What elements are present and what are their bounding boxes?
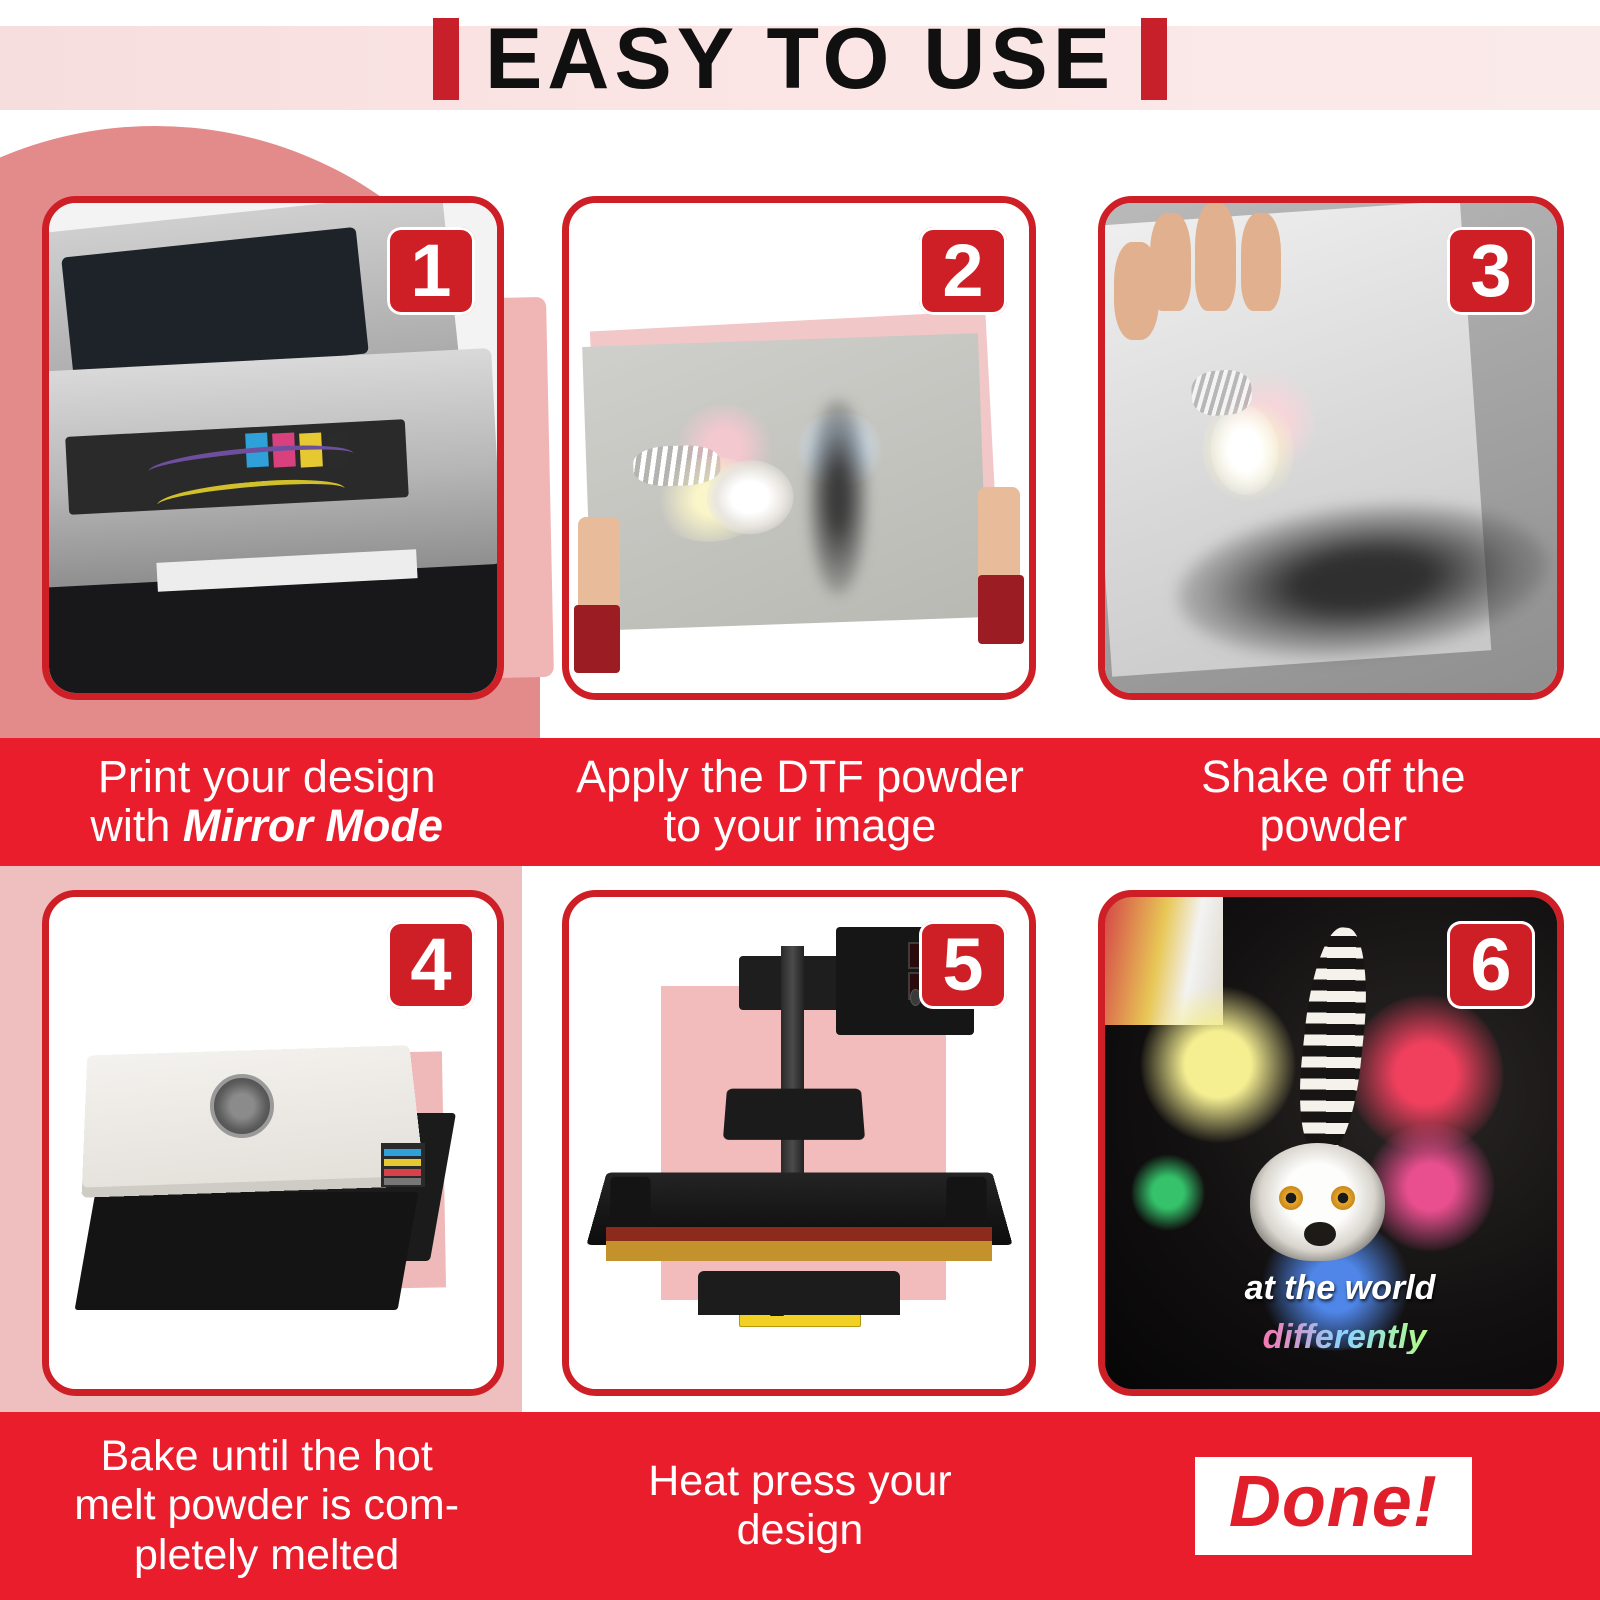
done-badge-box: Done! [1195,1457,1472,1555]
film-sheet-front [583,333,988,631]
panel-indicator-grey [384,1178,421,1185]
step-card-5[interactable]: 000 000 CAUTION [562,890,1036,1396]
press-base-foot [698,1271,900,1315]
header-left-accent-bar [433,18,459,100]
caption-step-3-line-1: Shake off the [1201,751,1465,802]
press-pressure-knob[interactable] [723,1089,865,1140]
panel-indicator-red [384,1169,421,1176]
caption-step-1-line-2-prefix: with [90,800,183,851]
caption-cell-step-2: Apply the DTF powder to your image [533,738,1066,866]
caption-step-3: Shake off the powder [1201,753,1465,850]
press-center-post [781,946,804,1192]
left-hand [578,517,619,615]
step-card-3[interactable]: 3 [1098,196,1564,700]
step-badge-4: 4 [387,921,475,1009]
page-header: EASY TO USE [0,0,1600,118]
caption-step-4-line-3: pletely melted [134,1531,399,1579]
caption-step-4: Bake until the hot melt powder is com- p… [74,1432,459,1579]
powder-blur-smear [808,399,868,595]
infographic-page: EASY TO USE 1 [0,0,1600,1600]
step-badge-5: 5 [919,921,1007,1009]
oven-drawer-tray [74,1192,417,1310]
caption-cell-step-4: Bake until the hot melt powder is com- p… [0,1412,533,1600]
platen-edge-foam [606,1241,992,1261]
page-title: EASY TO USE [485,16,1115,102]
caption-cell-step-5: Heat press your design [533,1412,1066,1600]
caption-step-1-line-1: Print your design [98,751,436,802]
caption-step-5: Heat press your design [648,1457,952,1555]
caption-step-5-line-1: Heat press your [648,1457,952,1505]
caption-step-1: Print your design with Mirror Mode [90,753,443,850]
step-card-6[interactable]: at the world differently 6 [1098,890,1564,1396]
caption-step-2: Apply the DTF powder to your image [576,753,1024,850]
caption-step-4-line-2: melt powder is com- [74,1481,459,1529]
shirt-art-text-line-2: differently [1168,1320,1521,1354]
caption-cell-step-1: Print your design with Mirror Mode [0,738,533,866]
caption-step-1-emphasis: Mirror Mode [183,800,443,851]
caption-step-4-line-1: Bake until the hot [101,1432,433,1480]
step-badge-2: 2 [919,227,1007,315]
done-label: Done! [1229,1465,1438,1541]
art-splatter-pink [1367,1123,1494,1251]
caption-step-3-line-2: powder [1260,800,1408,851]
right-hand [978,487,1019,585]
caption-step-2-line-1: Apply the DTF powder [576,751,1024,802]
step-badge-6: 6 [1447,921,1535,1009]
caption-band-top: Print your design with Mirror Mode Apply… [0,738,1600,866]
thumb [1114,242,1159,340]
step-card-4[interactable]: 4 [42,890,504,1396]
lemur-muzzle [1304,1222,1336,1247]
caption-step-2-line-2: to your image [664,800,937,851]
caption-cell-step-3: Shake off the powder [1067,738,1600,866]
caption-cell-step-6: Done! [1067,1412,1600,1600]
lemur-right-eye [1331,1186,1355,1210]
right-sleeve [978,575,1024,644]
left-sleeve [574,605,620,674]
step-card-1[interactable]: 1 [42,196,504,700]
art-splatter-yellow [1141,986,1295,1143]
finger-2 [1195,203,1236,311]
shirt-art-text-line-1: at the world [1159,1271,1521,1305]
panel-indicator-blue [384,1149,421,1156]
platen-edge-red [606,1227,992,1242]
lemur-left-eye [1279,1186,1303,1210]
panel-indicator-yellow [384,1159,421,1166]
finger-3 [1241,213,1282,311]
art-splatter-green [1132,1153,1204,1232]
oven-vent-fan-icon [210,1074,274,1138]
caption-band-bottom: Bake until the hot melt powder is com- p… [0,1412,1600,1600]
oven-control-panel [381,1143,426,1187]
step-badge-3: 3 [1447,227,1535,315]
step-badge-1: 1 [387,227,475,315]
caption-step-5-line-2: design [737,1506,864,1554]
step-card-2[interactable]: 2 [562,196,1036,700]
header-right-accent-bar [1141,18,1167,100]
